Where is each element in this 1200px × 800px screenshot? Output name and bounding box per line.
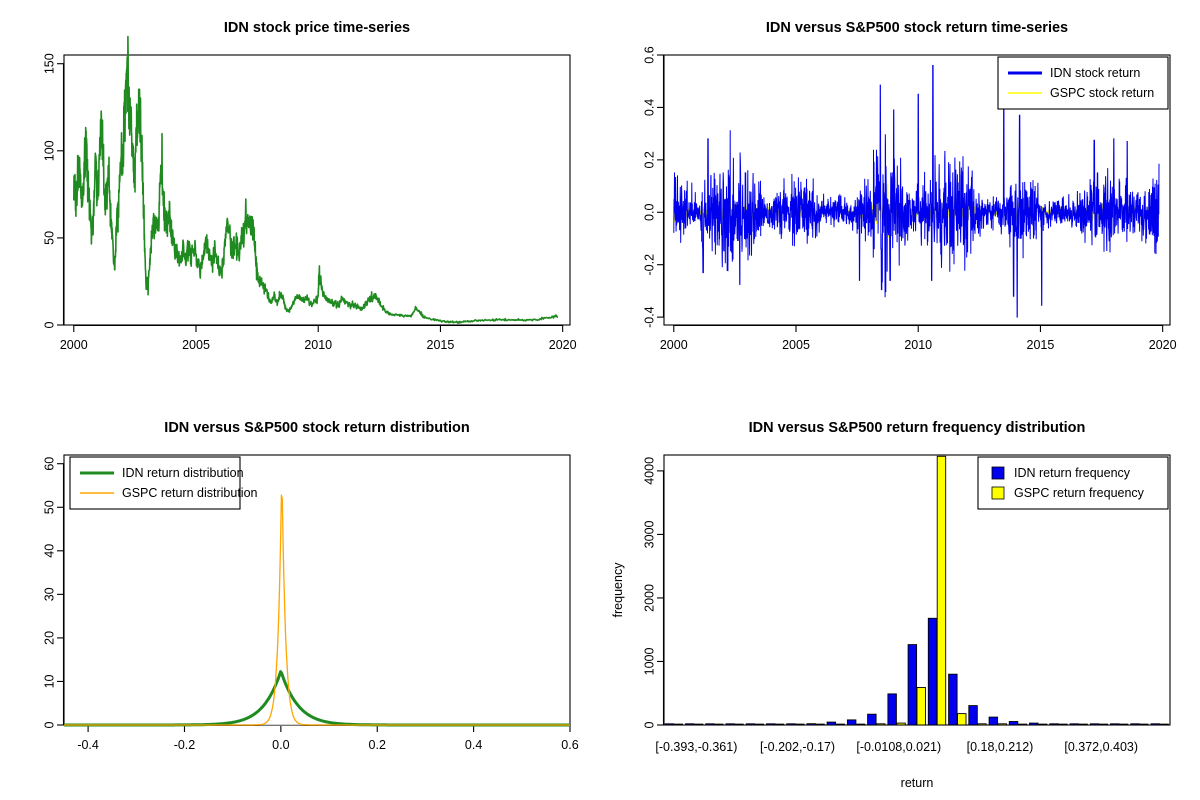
x-axis: [-0.393,-0.361)[-0.202,-0.17)[-0.0108,0.… bbox=[655, 740, 1138, 754]
legend: IDN return frequencyGSPC return frequenc… bbox=[978, 457, 1168, 509]
legend-label: GSPC return distribution bbox=[122, 486, 258, 500]
y-tick-label: 60 bbox=[42, 457, 56, 471]
legend-label: IDN return frequency bbox=[1014, 466, 1131, 480]
chart-panel-density: IDN versus S&P500 stock return distribut… bbox=[0, 400, 600, 800]
panel-title: IDN versus S&P500 stock return distribut… bbox=[164, 420, 469, 436]
histogram-bar bbox=[847, 720, 856, 725]
y-axis: 0102030405060 bbox=[42, 457, 64, 729]
histogram-bar bbox=[908, 645, 917, 725]
y-axis: 01000200030004000 bbox=[642, 457, 664, 729]
y-tick-label: 0.0 bbox=[642, 204, 656, 221]
y-tick-label: -0.2 bbox=[642, 254, 656, 276]
y-tick-label: 50 bbox=[42, 500, 56, 514]
x-tick-label: 2010 bbox=[904, 338, 932, 352]
x-tick-label: [-0.393,-0.361) bbox=[655, 740, 737, 754]
x-axis-title: return bbox=[901, 776, 934, 790]
panel-title: IDN versus S&P500 stock return time-seri… bbox=[766, 20, 1068, 36]
y-tick-label: 150 bbox=[42, 53, 56, 74]
histogram-bar bbox=[888, 694, 897, 725]
x-tick-label: 0.0 bbox=[272, 738, 289, 752]
y-tick-label: 2000 bbox=[642, 584, 656, 612]
y-axis-title: frequency bbox=[611, 562, 625, 618]
x-axis: 20002005201020152020 bbox=[60, 325, 577, 352]
figure-panel-grid: IDN stock price time-series2000200520102… bbox=[0, 0, 1200, 800]
gspc-density-curve bbox=[64, 495, 570, 725]
legend-label: IDN return distribution bbox=[122, 466, 244, 480]
y-tick-label: 0.2 bbox=[642, 151, 656, 168]
legend: IDN return distributionGSPC return distr… bbox=[70, 457, 258, 509]
legend-swatch bbox=[992, 487, 1004, 499]
x-axis: -0.4-0.20.00.20.40.6 bbox=[77, 725, 578, 752]
histogram-bar bbox=[928, 618, 937, 725]
legend-swatch bbox=[992, 467, 1004, 479]
legend-label: IDN stock return bbox=[1050, 66, 1140, 80]
y-tick-label: 40 bbox=[42, 544, 56, 558]
y-tick-label: 1000 bbox=[642, 648, 656, 676]
x-tick-label: 2005 bbox=[782, 338, 810, 352]
x-tick-label: [-0.202,-0.17) bbox=[760, 740, 835, 754]
y-tick-label: 0.6 bbox=[642, 46, 656, 63]
x-tick-label: [0.372,0.403) bbox=[1064, 740, 1138, 754]
y-tick-label: 20 bbox=[42, 631, 56, 645]
histogram-bar bbox=[989, 717, 998, 725]
y-tick-label: 3000 bbox=[642, 520, 656, 548]
y-axis: -0.4-0.20.00.20.40.6 bbox=[642, 46, 664, 328]
chart-panel-price: IDN stock price time-series2000200520102… bbox=[0, 0, 600, 400]
panel-title: IDN versus S&P500 return frequency distr… bbox=[749, 420, 1086, 436]
x-tick-label: 0.4 bbox=[465, 738, 482, 752]
histogram-bar bbox=[969, 706, 978, 725]
y-tick-label: 0 bbox=[642, 721, 656, 728]
x-tick-label: 2000 bbox=[60, 338, 88, 352]
x-axis: 20002005201020152020 bbox=[660, 325, 1177, 352]
x-tick-label: 0.6 bbox=[561, 738, 578, 752]
x-tick-label: 2005 bbox=[182, 338, 210, 352]
histogram-bar bbox=[937, 456, 946, 725]
x-tick-label: 2010 bbox=[304, 338, 332, 352]
x-tick-label: 2020 bbox=[1149, 338, 1177, 352]
histogram-bar bbox=[958, 714, 967, 725]
x-tick-label: [-0.0108,0.021) bbox=[856, 740, 941, 754]
y-tick-label: 30 bbox=[42, 587, 56, 601]
y-tick-label: 0 bbox=[42, 321, 56, 328]
panel-title: IDN stock price time-series bbox=[224, 20, 410, 36]
histogram-bar bbox=[868, 714, 877, 725]
x-tick-label: 2000 bbox=[660, 338, 688, 352]
x-tick-label: 0.2 bbox=[369, 738, 386, 752]
histogram-bar bbox=[917, 688, 926, 726]
x-tick-label: -0.2 bbox=[174, 738, 196, 752]
chart-panel-returns: IDN versus S&P500 stock return time-seri… bbox=[600, 0, 1200, 400]
x-tick-label: -0.4 bbox=[77, 738, 99, 752]
legend-label: GSPC return frequency bbox=[1014, 486, 1145, 500]
y-tick-label: 0.4 bbox=[642, 99, 656, 116]
x-tick-label: 2015 bbox=[1027, 338, 1055, 352]
y-tick-label: 100 bbox=[42, 140, 56, 161]
chart-panel-histogram: IDN versus S&P500 return frequency distr… bbox=[600, 400, 1200, 800]
y-tick-label: 50 bbox=[42, 231, 56, 245]
legend-label: GSPC stock return bbox=[1050, 86, 1154, 100]
y-tick-label: 4000 bbox=[642, 457, 656, 485]
legend: IDN stock returnGSPC stock return bbox=[998, 57, 1168, 109]
y-tick-label: 10 bbox=[42, 674, 56, 688]
y-tick-label: -0.4 bbox=[642, 306, 656, 328]
x-tick-label: 2015 bbox=[427, 338, 455, 352]
x-tick-label: 2020 bbox=[549, 338, 577, 352]
histogram-bar bbox=[949, 674, 958, 725]
y-axis: 050100150 bbox=[42, 53, 64, 328]
y-tick-label: 0 bbox=[42, 721, 56, 728]
x-tick-label: [0.18,0.212) bbox=[967, 740, 1034, 754]
idn-density-curve bbox=[64, 672, 570, 725]
price-series-line bbox=[74, 37, 558, 324]
